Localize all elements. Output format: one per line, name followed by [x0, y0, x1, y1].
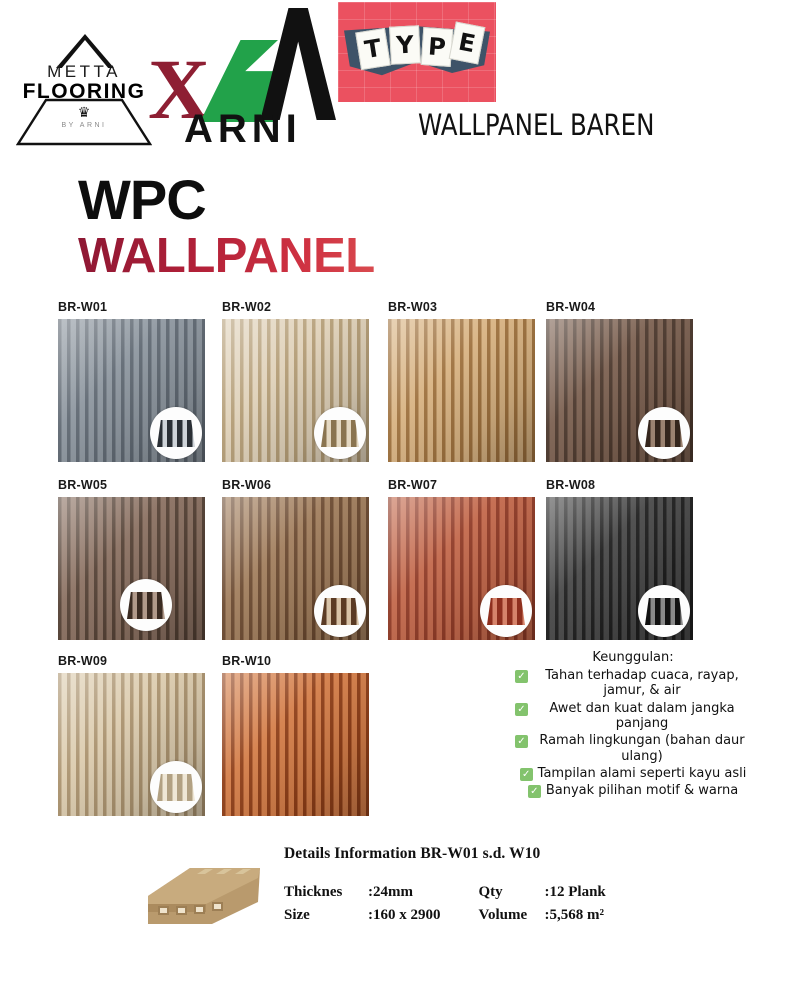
product-card[interactable]: BR-W07	[388, 478, 535, 640]
panel-swatch-inset	[120, 579, 172, 631]
product-code-label: BR-W05	[58, 478, 205, 492]
panel-swatch-inset	[314, 585, 366, 637]
product-code-label: BR-W09	[58, 654, 205, 668]
swatch-profile	[157, 420, 195, 447]
product-code-label: BR-W08	[546, 478, 693, 492]
detail-value: 24mm	[373, 881, 413, 904]
product-card[interactable]: BR-W08	[546, 478, 693, 640]
feature-item: ✓Tahan terhadap cuaca, rayap, jamur, & a…	[488, 668, 778, 699]
product-image[interactable]	[222, 319, 369, 462]
check-icon: ✓	[515, 703, 528, 716]
panel-cross-section-icon	[142, 838, 264, 934]
swatch-profile	[487, 598, 525, 625]
detail-value: 12 Plank	[550, 881, 606, 904]
panel-swatch-inset	[638, 407, 690, 459]
feature-item: ✓Awet dan kuat dalam jangka panjang	[488, 701, 778, 732]
detail-row: Volume: 5,568 m²	[479, 904, 606, 927]
details-column-left: Thicknes: 24mmSize: 160 x 2900	[284, 881, 441, 928]
feature-text: Tahan terhadap cuaca, rayap, jamur, & ai…	[533, 668, 751, 699]
product-card[interactable]: BR-W03	[388, 300, 535, 462]
detail-value: 160 x 2900	[373, 904, 441, 927]
product-card[interactable]: BR-W04	[546, 300, 693, 462]
product-card[interactable]: BR-W09	[58, 654, 205, 816]
details-information: Details Information BR-W01 s.d. W10 Thic…	[284, 845, 606, 928]
product-code-label: BR-W02	[222, 300, 369, 314]
product-card[interactable]: BR-W10	[222, 654, 369, 816]
feature-text: Ramah lingkungan (bahan daur ulang)	[533, 733, 751, 764]
product-image[interactable]	[222, 673, 369, 816]
scene-shading	[388, 319, 535, 462]
product-image[interactable]	[58, 497, 205, 640]
detail-row: Qty: 12 Plank	[479, 881, 606, 904]
product-card[interactable]: BR-W06	[222, 478, 369, 640]
product-image[interactable]	[222, 497, 369, 640]
product-code-label: BR-W04	[546, 300, 693, 314]
feature-item: ✓Ramah lingkungan (bahan daur ulang)	[488, 733, 778, 764]
feature-text: Tampilan alami seperti kayu asli	[538, 766, 747, 781]
check-icon: ✓	[515, 735, 528, 748]
swatch-profile	[645, 420, 683, 447]
features-title: Keunggulan:	[488, 650, 778, 665]
detail-row: Thicknes: 24mm	[284, 881, 441, 904]
panel-swatch-inset	[150, 761, 202, 813]
detail-row: Size: 160 x 2900	[284, 904, 441, 927]
swatch-profile	[127, 592, 165, 619]
product-image[interactable]	[58, 673, 205, 816]
scene-shading	[222, 673, 369, 816]
detail-key: Size	[284, 904, 368, 927]
feature-text: Banyak pilihan motif & warna	[546, 783, 738, 798]
feature-item: ✓Tampilan alami seperti kayu asli	[488, 766, 778, 781]
panel-swatch-inset	[638, 585, 690, 637]
product-code-label: BR-W07	[388, 478, 535, 492]
feature-text: Awet dan kuat dalam jangka panjang	[533, 701, 751, 732]
product-code-label: BR-W01	[58, 300, 205, 314]
product-code-label: BR-W06	[222, 478, 369, 492]
swatch-profile	[321, 598, 359, 625]
product-image[interactable]	[388, 319, 535, 462]
swatch-profile	[645, 598, 683, 625]
details-title: Details Information BR-W01 s.d. W10	[284, 845, 606, 863]
product-image[interactable]	[546, 319, 693, 462]
detail-key: Thicknes	[284, 881, 368, 904]
product-card[interactable]: BR-W02	[222, 300, 369, 462]
check-icon: ✓	[528, 785, 541, 798]
panel-swatch-inset	[314, 407, 366, 459]
product-code-label: BR-W03	[388, 300, 535, 314]
swatch-profile	[157, 774, 195, 801]
detail-key: Qty	[479, 881, 545, 904]
check-icon: ✓	[515, 670, 528, 683]
details-column-right: Qty: 12 PlankVolume: 5,568 m²	[479, 881, 606, 928]
check-icon: ✓	[520, 768, 533, 781]
product-card[interactable]: BR-W05	[58, 478, 205, 640]
product-image[interactable]	[58, 319, 205, 462]
panel-swatch-inset	[150, 407, 202, 459]
detail-value: 5,568 m²	[550, 904, 605, 927]
product-code-label: BR-W10	[222, 654, 369, 668]
features-panel: Keunggulan: ✓Tahan terhadap cuaca, rayap…	[488, 650, 778, 801]
panel-swatch-inset	[480, 585, 532, 637]
product-card[interactable]: BR-W01	[58, 300, 205, 462]
product-image[interactable]	[546, 497, 693, 640]
product-image[interactable]	[388, 497, 535, 640]
detail-key: Volume	[479, 904, 545, 927]
feature-item: ✓Banyak pilihan motif & warna	[488, 783, 778, 798]
swatch-profile	[321, 420, 359, 447]
